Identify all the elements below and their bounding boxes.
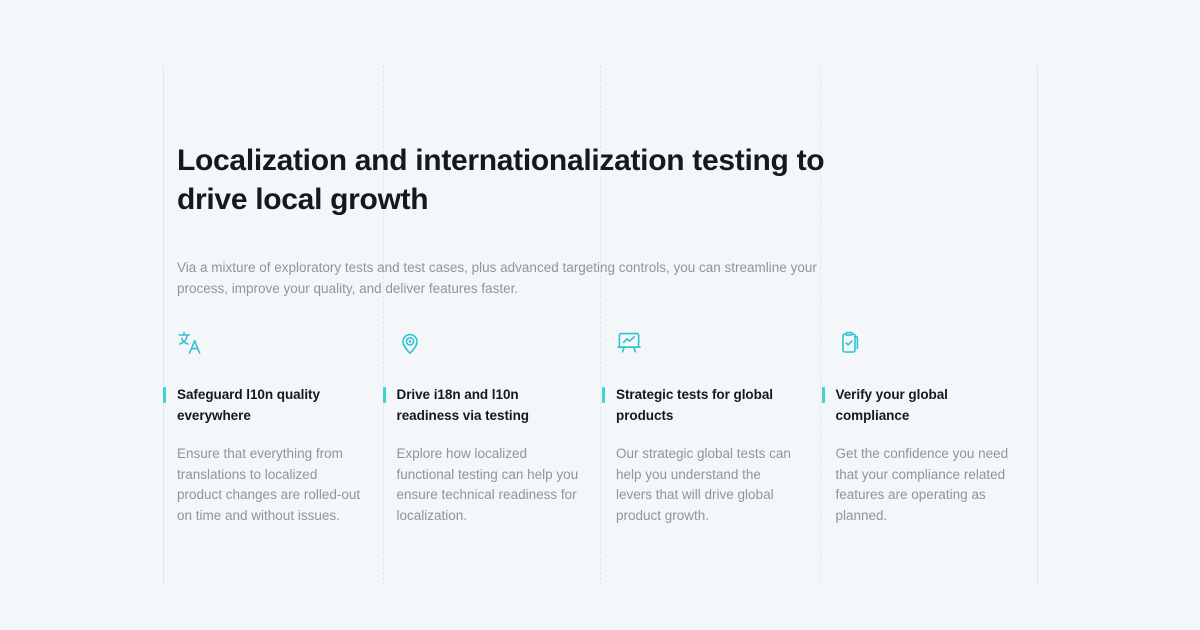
feature-card-3: Strategic tests for global products Our … (602, 330, 822, 526)
feature-body: Get the confidence you need that your co… (836, 444, 1017, 526)
feature-body: Explore how localized functional testing… (397, 444, 581, 526)
accent-bar (163, 387, 166, 403)
page-title: Localization and internationalization te… (177, 141, 837, 219)
presentation-chart-icon (616, 330, 800, 358)
feature-title: Drive i18n and l10n readiness via testin… (397, 384, 581, 426)
page-root: Localization and internationalization te… (0, 0, 1200, 630)
map-pin-icon (397, 330, 581, 358)
accent-bar (383, 387, 386, 403)
feature-card-4: Verify your global compliance Get the co… (822, 330, 1039, 526)
feature-body: Ensure that everything from translations… (177, 444, 361, 526)
translate-icon (177, 330, 361, 358)
feature-columns: Safeguard l10n quality everywhere Ensure… (163, 330, 1038, 526)
feature-card-1: Safeguard l10n quality everywhere Ensure… (163, 330, 383, 526)
feature-title: Strategic tests for global products (616, 384, 800, 426)
feature-card-2: Drive i18n and l10n readiness via testin… (383, 330, 603, 526)
accent-bar (822, 387, 825, 403)
feature-title: Verify your global compliance (836, 384, 1017, 426)
feature-body: Our strategic global tests can help you … (616, 444, 800, 526)
feature-title: Safeguard l10n quality everywhere (177, 384, 361, 426)
accent-bar (602, 387, 605, 403)
clipboard-check-icon (836, 330, 1017, 358)
page-subtitle: Via a mixture of exploratory tests and t… (177, 257, 817, 299)
